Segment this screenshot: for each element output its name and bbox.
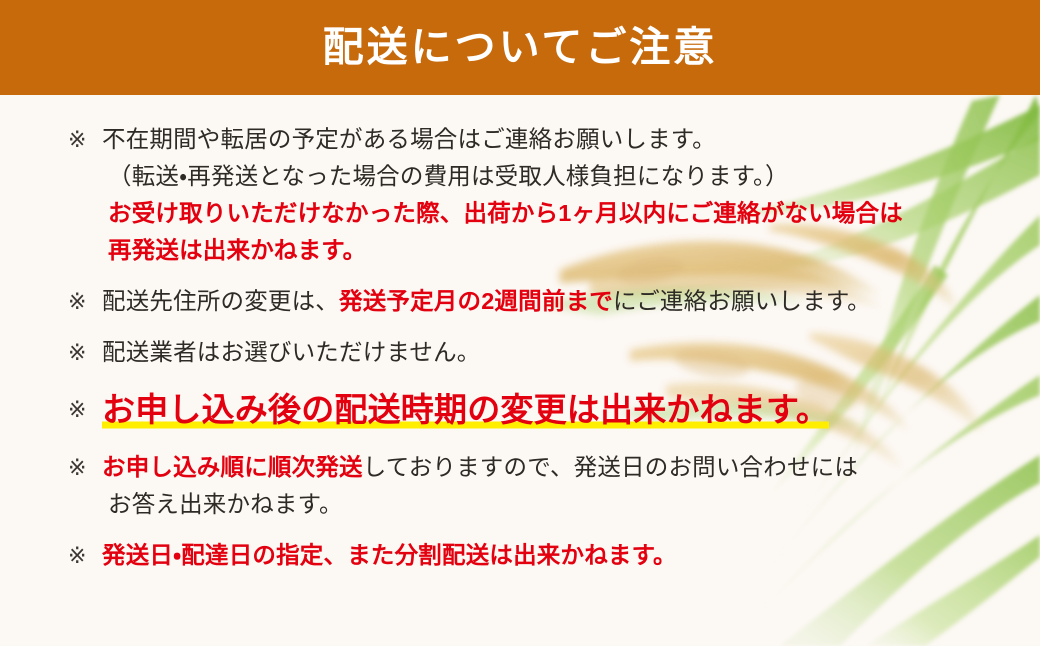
notice-line-text: 配送先住所の変更は、	[102, 288, 339, 314]
delivery-notice-card: 配送についてご注意	[0, 0, 1040, 646]
notice-item-text: 発送日・配達日の指定、また分割配送は出来かねます。	[102, 537, 1000, 574]
notice-line-text: 配送業者はお選びいただけません。	[102, 339, 481, 365]
bullet-icon: ※	[68, 334, 102, 371]
notice-line-text: （転送・再発送となった場合の費用は受取人様負担になります。）	[108, 163, 789, 189]
notice-header: 配送についてご注意	[0, 0, 1040, 95]
notice-line-text: しておりますので、発送日のお問い合わせには	[363, 454, 858, 480]
notice-line-text: 発送日・配達日の指定、また分割配送は出来かねます。	[102, 542, 677, 568]
notice-item-absence-relocation: ※ 不在期間や転居の予定がある場合はご連絡お願いします。 （転送・再発送となった…	[68, 121, 1000, 269]
bullet-icon: ※	[68, 385, 102, 435]
notice-line-text: にご連絡お願いします。	[613, 288, 871, 314]
bullet-icon: ※	[68, 283, 102, 320]
bullet-icon: ※	[68, 121, 102, 158]
notice-item-text: お申し込み順に順次発送しておりますので、発送日のお問い合わせには お答え出来かね…	[102, 449, 1000, 523]
notice-item-text: 配送先住所の変更は、発送予定月の2週間前までにご連絡お願いします。	[102, 283, 1000, 320]
notice-line-text: 再発送は出来かねます。	[108, 237, 366, 263]
page-title: 配送についてご注意	[323, 27, 718, 68]
notice-line-emphasis: 発送予定月の2週間前まで	[339, 288, 613, 314]
notice-item-text: お申し込み後の配送時期の変更は出来かねます。	[102, 385, 1000, 435]
bullet-icon: ※	[68, 449, 102, 486]
notice-line-emphasis: お申し込み順に順次発送	[102, 454, 363, 480]
notice-line-text: お答え出来かねます。	[108, 491, 343, 517]
notice-item-date-designation: ※ 発送日・配達日の指定、また分割配送は出来かねます。	[68, 537, 1000, 574]
notice-item-carrier-selection: ※ 配送業者はお選びいただけません。	[68, 334, 1000, 371]
highlighted-warning-text: お申し込み後の配送時期の変更は出来かねます。	[102, 391, 829, 430]
notice-item-text: 不在期間や転居の予定がある場合はご連絡お願いします。 （転送・再発送となった場合…	[102, 121, 1000, 269]
notice-item-delivery-timing-change: ※ お申し込み後の配送時期の変更は出来かねます。	[68, 385, 1000, 435]
notice-item-shipping-order: ※ お申し込み順に順次発送しておりますので、発送日のお問い合わせには お答え出来…	[68, 449, 1000, 523]
notice-item-text: 配送業者はお選びいただけません。	[102, 334, 1000, 371]
notice-item-address-change: ※ 配送先住所の変更は、発送予定月の2週間前までにご連絡お願いします。	[68, 283, 1000, 320]
notice-body: ※ 不在期間や転居の予定がある場合はご連絡お願いします。 （転送・再発送となった…	[0, 95, 1040, 574]
bullet-icon: ※	[68, 537, 102, 574]
notice-line-text: 不在期間や転居の予定がある場合はご連絡お願いします。	[102, 126, 716, 152]
notice-line-text: お受け取りいただけなかった際、出荷から1ヶ月以内にご連絡がない場合は	[108, 200, 903, 226]
